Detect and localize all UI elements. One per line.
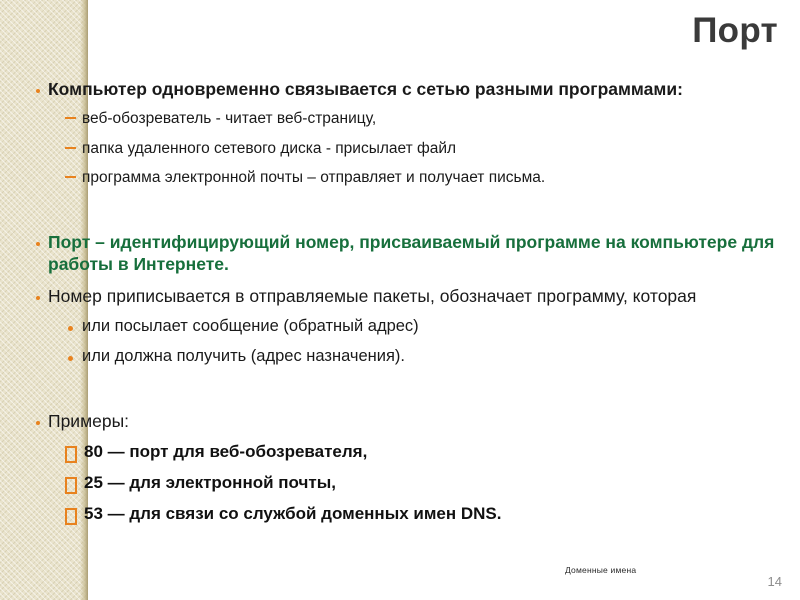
- round-dot-icon: [58, 346, 82, 361]
- spacer: [28, 159, 776, 168]
- round-dot-icon: [58, 316, 82, 331]
- spacer: [28, 392, 776, 410]
- square-box-icon: [58, 472, 84, 494]
- port-list-text: 53 — для связи со службой доменных имен …: [84, 503, 776, 525]
- bullet-text: или посылает сообщение (обратный адрес): [82, 316, 776, 337]
- bullet-item: программа электронной почты – отправляет…: [58, 168, 776, 188]
- spacer: [28, 276, 776, 285]
- bullet-item: Компьютер одновременно связывается с сет…: [28, 78, 776, 100]
- bullet-text: или должна получить (адрес назначения).: [82, 346, 776, 367]
- bullet-item-highlight: Порт – идентифицирующий номер, присваива…: [28, 231, 776, 276]
- spacer: [28, 337, 776, 346]
- spacer: [28, 368, 776, 392]
- round-dot-icon: [28, 231, 48, 246]
- bullet-item: или посылает сообщение (обратный адрес): [58, 316, 776, 337]
- square-box-icon: [58, 441, 84, 463]
- bullet-text: веб-обозреватель - читает веб-страницу,: [82, 109, 776, 129]
- bullet-item: или должна получить (адрес назначения).: [58, 346, 776, 367]
- bullet-text: папка удаленного сетевого диска - присыл…: [82, 139, 776, 159]
- slide-body: Компьютер одновременно связывается с сет…: [28, 78, 776, 525]
- bullet-item: веб-обозреватель - читает веб-страницу,: [58, 109, 776, 129]
- round-dot-icon: [28, 410, 48, 425]
- bullet-text: Примеры:: [48, 410, 776, 432]
- spacer: [28, 494, 776, 503]
- slide-title: Порт: [692, 12, 778, 51]
- bullet-text: программа электронной почты – отправляет…: [82, 168, 776, 188]
- square-box-icon: [58, 503, 84, 525]
- spacer: [28, 463, 776, 472]
- bullet-text: Номер приписывается в отправляемые пакет…: [48, 285, 776, 307]
- page-number: 14: [768, 574, 782, 589]
- bullet-text: Порт – идентифицирующий номер, присваива…: [48, 231, 776, 276]
- footer-note: Доменные имена: [565, 565, 636, 575]
- bullet-item-examples-heading: Примеры:: [28, 410, 776, 432]
- bullet-text: Компьютер одновременно связывается с сет…: [48, 78, 776, 100]
- spacer: [28, 100, 776, 109]
- spacer: [28, 213, 776, 231]
- bullet-item: Номер приписывается в отправляемые пакет…: [28, 285, 776, 307]
- dash-icon: [58, 139, 82, 149]
- spacer: [28, 130, 776, 139]
- port-list-text: 80 — порт для веб-обозревателя,: [84, 441, 776, 463]
- spacer: [28, 189, 776, 213]
- dash-icon: [58, 109, 82, 119]
- round-dot-icon: [28, 78, 48, 93]
- spacer: [28, 307, 776, 316]
- round-dot-icon: [28, 285, 48, 300]
- spacer: [28, 432, 776, 441]
- port-list-item: 53 — для связи со службой доменных имен …: [58, 503, 776, 525]
- bullet-item: папка удаленного сетевого диска - присыл…: [58, 139, 776, 159]
- port-list-item: 25 — для электронной почты,: [58, 472, 776, 494]
- port-list-text: 25 — для электронной почты,: [84, 472, 776, 494]
- dash-icon: [58, 168, 82, 178]
- port-list-item: 80 — порт для веб-обозревателя,: [58, 441, 776, 463]
- slide: Порт Компьютер одновременно связывается …: [0, 0, 800, 600]
